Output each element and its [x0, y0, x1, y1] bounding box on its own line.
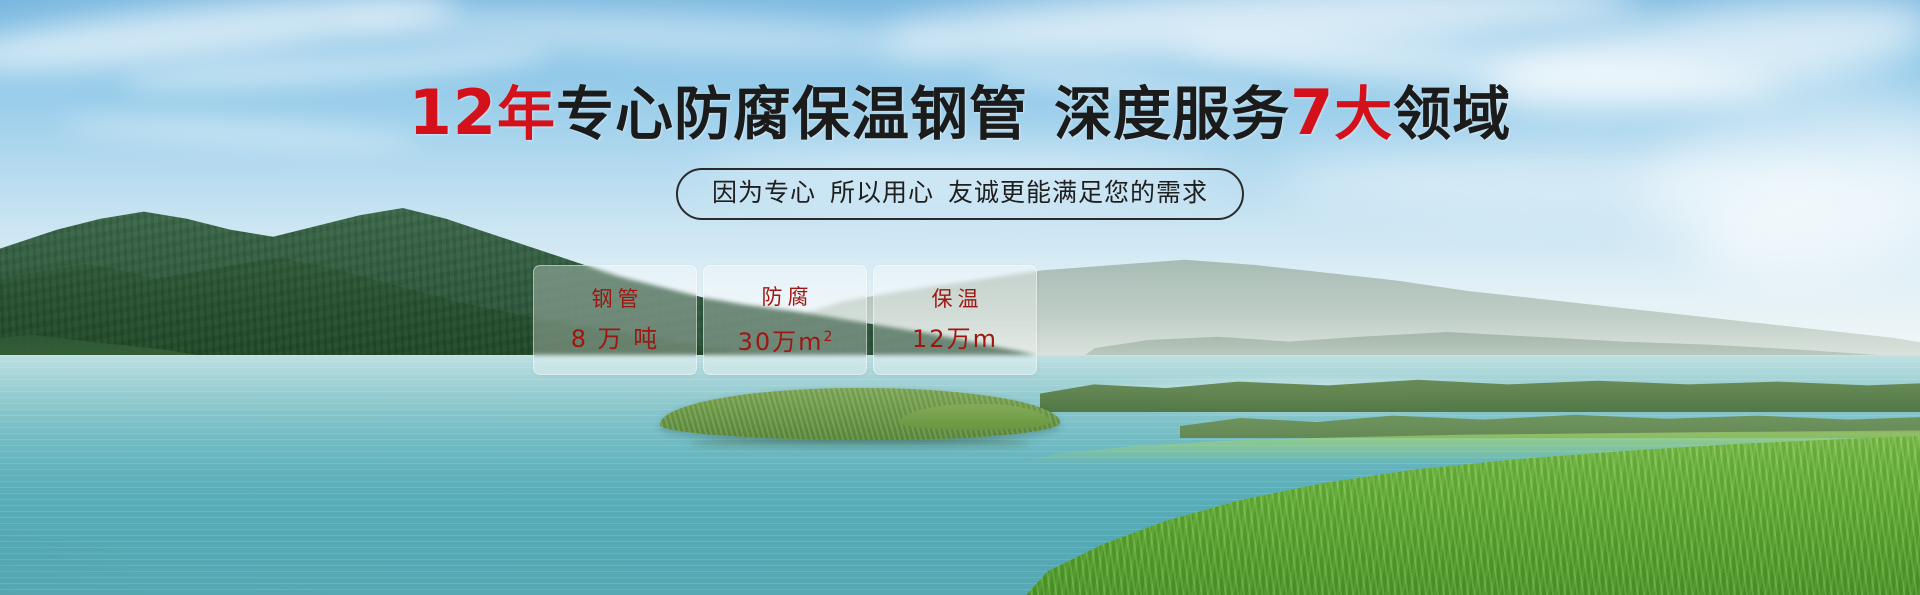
- banner-content: 12年专心防腐保温钢管深度服务7大领域 因为专心所以用心友诚更能满足您的需求 钢…: [0, 0, 1920, 595]
- stat-value: 30万m2: [738, 323, 833, 356]
- stat-value-main: 30万m: [738, 328, 824, 356]
- headline-years-number: 12: [409, 76, 497, 149]
- headline-fields-word: 领域: [1393, 80, 1511, 148]
- stat-value-main: 8 万 吨: [571, 325, 660, 353]
- stat-card-insulation: 保温 12万m: [873, 265, 1037, 375]
- hero-banner: 12年专心防腐保温钢管深度服务7大领域 因为专心所以用心友诚更能满足您的需求 钢…: [0, 0, 1920, 595]
- subtitle-pill: 因为专心所以用心友诚更能满足您的需求: [676, 168, 1244, 220]
- stat-card-anticorrosion: 防腐 30万m2: [703, 265, 867, 375]
- stat-value: 12万m: [912, 325, 998, 353]
- stat-label: 保温: [927, 287, 984, 311]
- headline-service-phrase: 深度服务: [1054, 80, 1290, 148]
- stat-value-main: 12万m: [912, 325, 998, 353]
- subtitle-part-1: 因为专心: [712, 178, 816, 207]
- stat-value-superscript: 2: [824, 329, 833, 345]
- stats-group: 钢管 8 万 吨 防腐 30万m2 保温 12万m: [533, 265, 1037, 375]
- banner-headline: 12年专心防腐保温钢管深度服务7大领域: [0, 82, 1920, 145]
- subtitle-part-2: 所以用心: [830, 178, 934, 207]
- stat-label: 防腐: [757, 285, 814, 309]
- stat-value: 8 万 吨: [571, 325, 660, 353]
- headline-main-phrase: 专心防腐保温钢管: [556, 80, 1028, 148]
- stat-card-steel-pipe: 钢管 8 万 吨: [533, 265, 697, 375]
- stat-label: 钢管: [587, 287, 644, 311]
- headline-years-unit: 年: [497, 80, 556, 148]
- headline-fields-unit: 大: [1334, 80, 1393, 148]
- headline-fields-number: 7: [1290, 76, 1334, 149]
- subtitle-part-3: 友诚更能满足您的需求: [948, 178, 1208, 207]
- subtitle-text: 因为专心所以用心友诚更能满足您的需求: [712, 177, 1208, 209]
